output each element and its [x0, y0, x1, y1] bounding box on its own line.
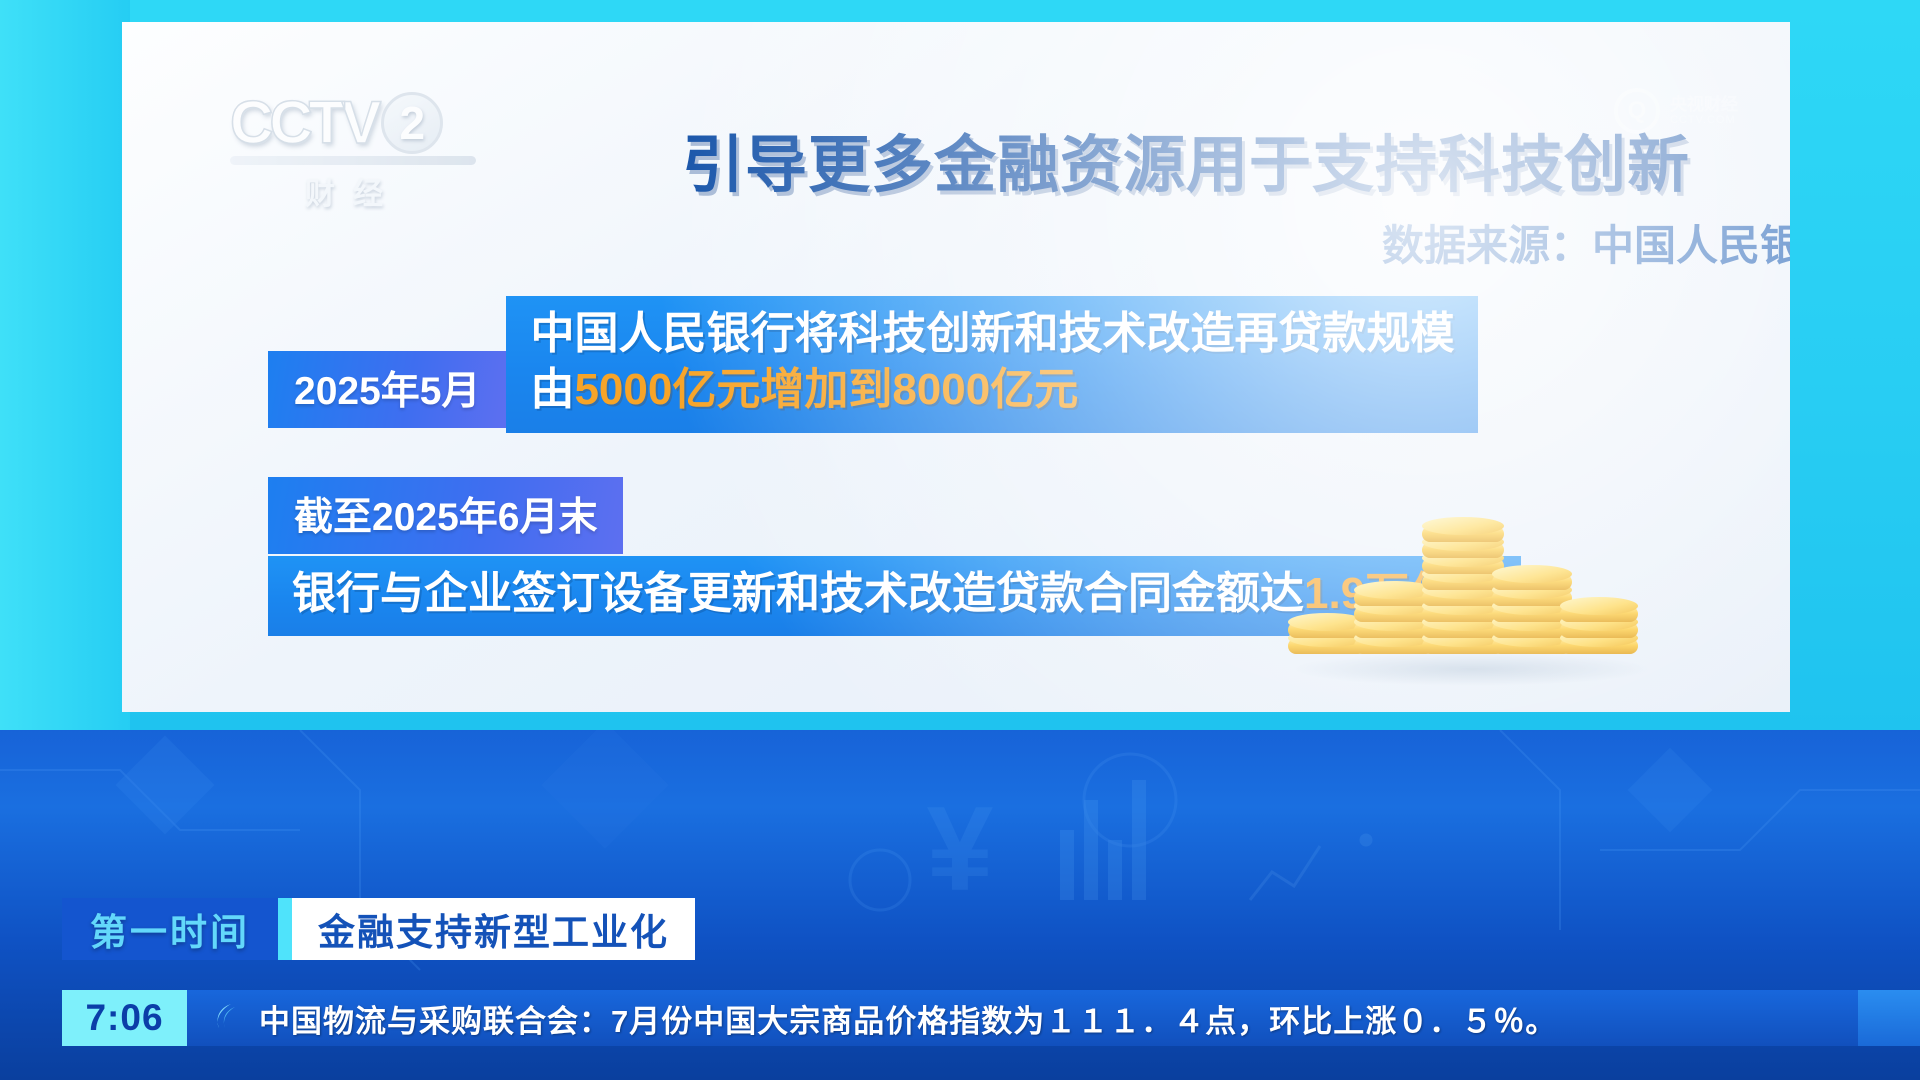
- cctv-logo-text: CCTV 2: [230, 92, 492, 154]
- infographic-card: CCTV 2 财经 Q 央视财经 CCTV.COM 引导更多金融资源用于支持科技…: [122, 22, 1790, 712]
- block-body: 中国人民银行将科技创新和技术改造再贷款规模由5000亿元增加到8000亿元: [506, 296, 1478, 433]
- block-body-line: 由5000亿元增加到8000亿元: [530, 362, 1454, 418]
- news-ticker: 7:06 中国物流与采购联合会：7月份中国大宗商品价格指数为１１１．４点，环比上…: [62, 990, 1920, 1046]
- ticker-tail: [1858, 990, 1920, 1046]
- ticker-text: 中国物流与采购联合会：7月份中国大宗商品价格指数为１１１．４点，环比上涨０．５％…: [259, 996, 1557, 1041]
- clock-display: 7:06: [62, 990, 187, 1046]
- coin-stack-shadow: [1292, 652, 1652, 686]
- cctv-logo-underline: [230, 156, 476, 165]
- headline-title: 引导更多金融资源用于支持科技创新: [682, 114, 1790, 204]
- cctv-logo-subtitle: 财经: [230, 169, 476, 213]
- svg-text:¥: ¥: [927, 782, 994, 916]
- program-topic: 金融支持新型工业化: [292, 898, 695, 960]
- gold-coin-stack-illustration: [1282, 490, 1662, 690]
- body-text-segment: 由: [530, 365, 574, 414]
- watermark-line1: 央视财经: [1670, 95, 1738, 114]
- block-body-line: 中国人民银行将科技创新和技术改造再贷款规模: [530, 306, 1454, 362]
- block-gap: [268, 433, 1668, 477]
- cctv-logo-letters: CCTV: [230, 93, 377, 153]
- data-source-label: 数据来源：中国人民银行: [682, 212, 1790, 273]
- cctv-logo-number: 2: [381, 92, 443, 154]
- highlighted-figure: 5000亿元增加到8000亿元: [574, 365, 1078, 414]
- body-text-segment: 银行与企业签订设备更新和技术改造贷款合同金额达: [292, 569, 1304, 618]
- program-bar-separator: [278, 898, 292, 960]
- program-title-bar: 第一时间 金融支持新型工业化: [62, 898, 695, 960]
- stage-left-glow: [0, 0, 130, 730]
- body-text-segment: 中国人民银行将科技创新和技术改造再贷款规模: [530, 309, 1454, 358]
- ticker-body: 中国物流与采购联合会：7月份中国大宗商品价格指数为１１１．４点，环比上涨０．５％…: [187, 990, 1858, 1046]
- swoosh-icon: [209, 1001, 243, 1035]
- cctv2-logo: CCTV 2 财经: [230, 92, 492, 196]
- block-period-tag: 截至2025年6月末: [268, 477, 623, 554]
- info-block: 2025年5月中国人民银行将科技创新和技术改造再贷款规模由5000亿元增加到80…: [268, 294, 1668, 433]
- block-period-tag: 2025年5月: [268, 351, 506, 428]
- program-name: 第一时间: [62, 898, 278, 960]
